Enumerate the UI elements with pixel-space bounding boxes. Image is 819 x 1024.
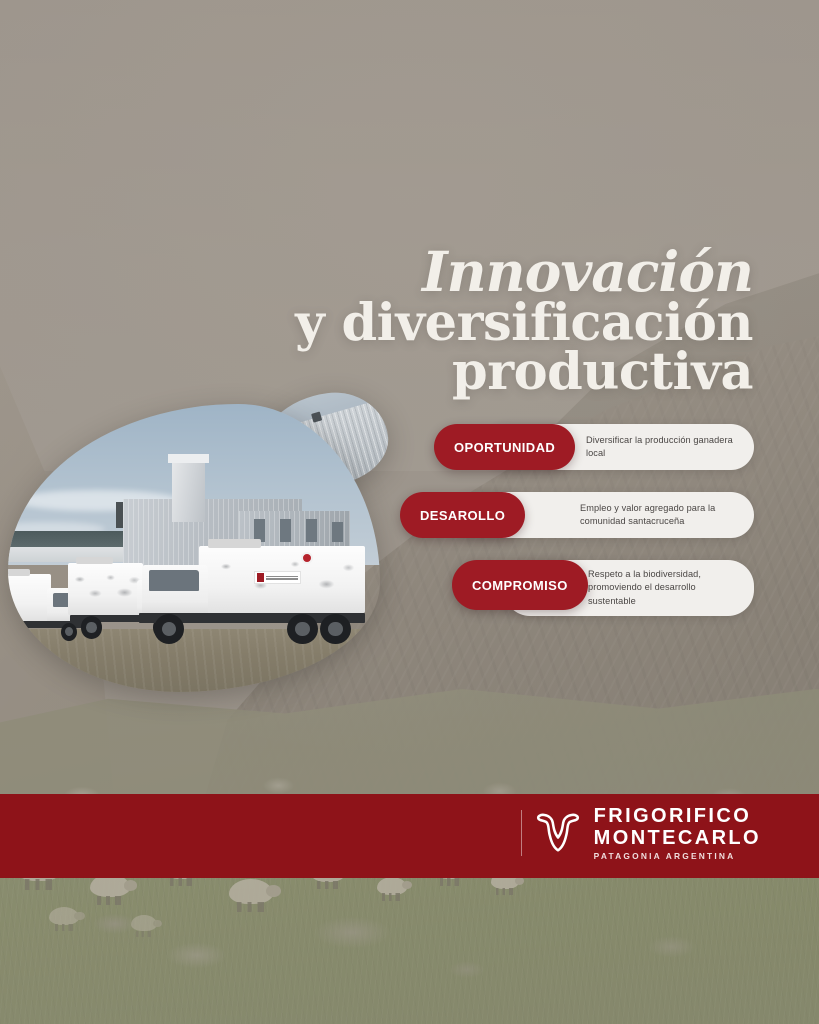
brand-logo[interactable]: FRIGORIFICO MONTECARLO PATAGONIA ARGENTI… <box>521 806 761 860</box>
horns-mark-icon <box>534 812 582 854</box>
truck <box>134 539 372 657</box>
truck-brand-logo <box>254 571 302 584</box>
headline-line-2: y diversificación <box>113 299 753 348</box>
logo-line-2: MONTECARLO <box>594 828 761 848</box>
truck-brand-wordmark <box>266 576 299 580</box>
truck-wheel <box>320 614 351 645</box>
logo-line-3: PATAGONIA ARGENTINA <box>594 852 761 860</box>
truck-refrigeration-unit <box>208 539 260 547</box>
poster: Innovación y diversificación productiva … <box>0 0 819 1024</box>
list-item[interactable]: Respeto a la biodiversidad, promoviendo … <box>434 560 764 616</box>
highlight-list: Diversificar la producción ganadera loca… <box>434 424 764 636</box>
truck-refrigeration-unit <box>8 569 30 576</box>
truck-windshield <box>149 570 199 591</box>
headline-line-1: Innovación <box>113 245 753 298</box>
photo-blob-cluster <box>0 392 400 702</box>
highlight-text: Empleo y valor agregado para la comunida… <box>580 502 738 528</box>
truck-wheel <box>12 623 28 642</box>
highlight-text: Respeto a la biodiversidad, promoviendo … <box>588 568 738 607</box>
headline-line-3: productiva <box>113 348 753 397</box>
truck-wheel <box>154 614 185 645</box>
factory-tower-cap <box>168 454 209 463</box>
list-item[interactable]: Diversificar la producción ganadera loca… <box>434 424 764 472</box>
truck-refrigeration-unit <box>76 557 113 564</box>
highlight-text: Diversificar la producción ganadera loca… <box>586 434 738 460</box>
factory-tower <box>172 459 205 522</box>
list-item[interactable]: Empleo y valor agregado para la comunida… <box>434 492 764 540</box>
badge-desarollo[interactable]: DESAROLLO <box>400 492 525 538</box>
page-title: Innovación y diversificación productiva <box>113 245 753 397</box>
logo-wordmark: FRIGORIFICO MONTECARLO PATAGONIA ARGENTI… <box>594 806 761 860</box>
badge-compromiso[interactable]: COMPROMISO <box>452 560 588 610</box>
badge-oportunidad[interactable]: OPORTUNIDAD <box>434 424 575 470</box>
horns-mark-icon <box>257 573 264 582</box>
truck-wheel <box>287 614 318 645</box>
truck-box <box>8 574 51 621</box>
logo-line-1: FRIGORIFICO <box>594 806 761 826</box>
logo-divider <box>521 810 522 856</box>
truck-wheel <box>81 616 102 638</box>
truck-box-artwork <box>70 567 140 611</box>
photo-blob-trucks <box>8 404 380 692</box>
